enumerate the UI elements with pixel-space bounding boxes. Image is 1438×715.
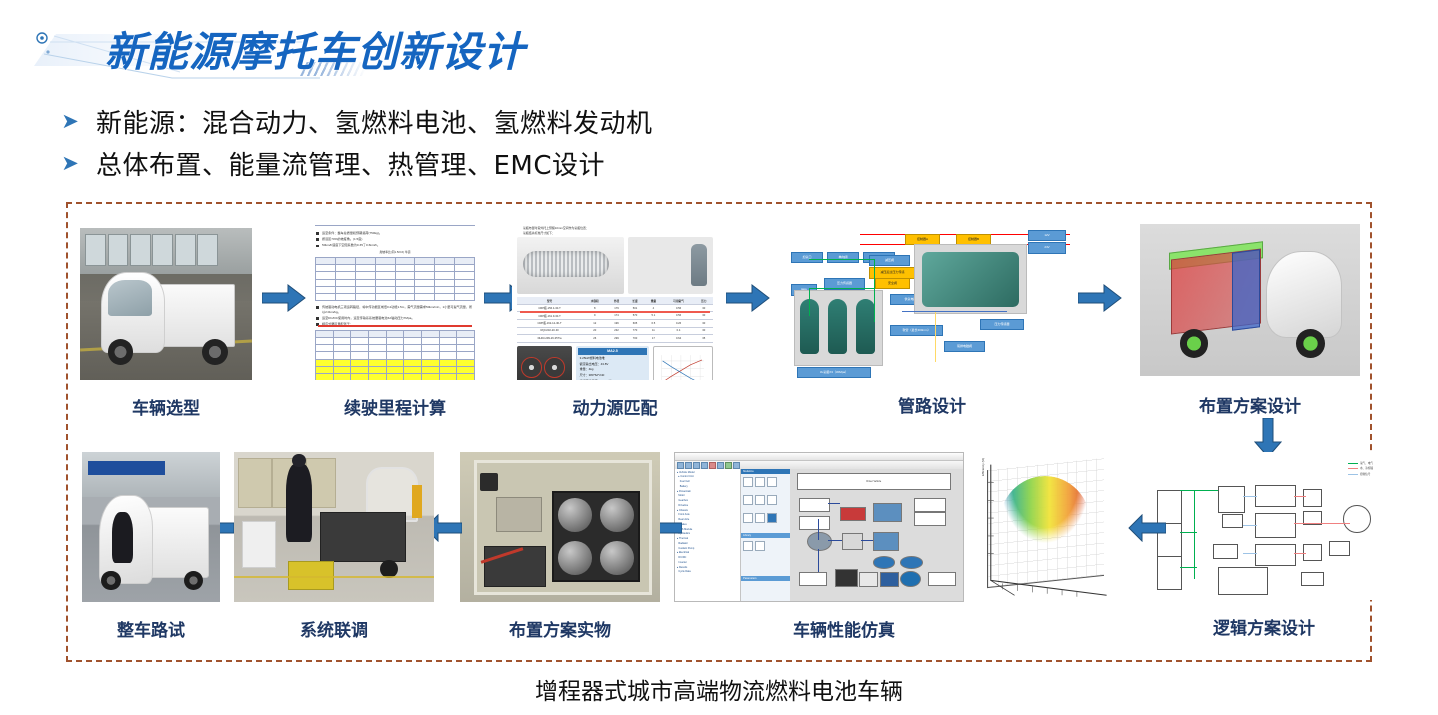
bottom-caption: 增程器式城市高端物流燃料电池车辆 — [0, 672, 1438, 706]
hydrogen-tank-photo — [517, 237, 624, 294]
arrow-3-to-4 — [726, 284, 770, 312]
fuelcell-stack — [914, 244, 1027, 315]
arrow-4-to-5 — [1078, 284, 1122, 312]
piping-label-yellow: 安全阀 — [875, 278, 910, 289]
bullet-marker-icon: ➤ — [56, 111, 84, 132]
spec-card-item: 3.25kW燃料电池堆 — [580, 356, 648, 360]
piping-label-yellow: 减压后过压力传感 — [869, 267, 916, 278]
bullet-text-1: 新能源：混合动力、氢燃料电池、氢燃料发动机 — [84, 103, 653, 140]
flow-step-road-test[interactable]: 整车路试 — [82, 452, 220, 602]
flow-step-label: 车辆性能仿真 — [694, 616, 994, 641]
doc-bullet: 运至条件：整车总质量和预期载荷(750kg)。 — [315, 231, 475, 236]
tank-rack — [552, 491, 640, 582]
flow-step-piping-design[interactable]: 12V 24V 控制器A 控制器B 加氢口 单向阀 过滤器 硬管 压力传感器 减… — [782, 222, 1082, 378]
flow-step-label: 系统联调 — [234, 616, 434, 641]
valve-parts-diagram — [628, 237, 713, 294]
simulation-software: ▸ Vehicle Model ▸ Control Unit Fuel Cell… — [674, 452, 964, 602]
block-library-panel[interactable]: Modelica Library Parameters — [741, 469, 791, 601]
slide-title-block: 新能源摩托车创新设计 — [0, 0, 760, 96]
photo-workshop-rig — [234, 452, 434, 602]
spec-card-item: 重量：4kg — [580, 367, 648, 371]
hydrogen-tank-spec: 氢瓶布置时需外托上预留10mm空间作为氢瓶位置： 氢瓶结关标准尺寸如下： 型号水… — [512, 222, 718, 380]
doc-bullet: 50km/h速度下空阻系数为0.35了0.6km/h。 — [315, 243, 475, 248]
doc-table-top — [315, 257, 475, 301]
flow-step-power-source-matching[interactable]: 氢瓶布置时需外托上预留10mm空间作为氢瓶位置： 氢瓶结关标准尺寸如下： 型号水… — [512, 222, 718, 380]
flow-step-label: 布置方案设计 — [1140, 392, 1360, 417]
bullet-list: ➤ 新能源：混合动力、氢燃料电池、氢燃料发动机 ➤ 总体布置、能量流管理、热管理… — [56, 100, 956, 184]
doc-bullet: 传统驱动电机三项运转路径，将中传功能区域低0.2功能1.5m，需气流量需求50k… — [315, 305, 475, 315]
doc-bullet: 运至DC/DC使用时内，运至传输系系统要驱电池3A轴动压力7Mpa。 — [315, 316, 475, 321]
flow-step-label: 整车路试 — [82, 616, 220, 641]
flow-step-vehicle-selection[interactable]: 车辆选型 — [80, 228, 252, 380]
doc-table-title: 爬坡率比(同1.5/0.6) 牛顿 — [315, 250, 475, 254]
flow-step-layout-design[interactable]: 布置方案设计 — [1140, 224, 1360, 376]
flow-step-label: 车辆选型 — [80, 394, 252, 419]
simulation-canvas[interactable]: Driver Vehicle — [790, 469, 963, 601]
page-title: 新能源摩托车创新设计 — [105, 18, 525, 78]
doc-table-bottom — [315, 330, 475, 380]
piping-label: 尾排电磁阀 — [944, 341, 985, 352]
spec-card-title: MA2.5 — [578, 348, 648, 355]
photo-road-test — [82, 452, 220, 602]
piping-schematic: 12V 24V 控制器A 控制器B 加氢口 单向阀 过滤器 硬管 压力传感器 减… — [782, 222, 1082, 378]
spreadsheet-document: 运至条件：整车总质量和预期载荷(750kg)。 按道区70%的坡度角。(1.5度… — [308, 218, 482, 380]
flow-step-label: 布置方案实物 — [460, 616, 660, 641]
surface-plot-3d: Efficiency (%) — [970, 452, 1118, 602]
flow-step-label: 逻辑方案设计 — [1148, 614, 1380, 639]
doc-bullet: 按道区70%的坡度角。(1.5度) — [315, 237, 475, 242]
piping-label: 减压阀 — [869, 255, 910, 266]
bullet-item-2: ➤ 总体布置、能量流管理、热管理、EMC设计 — [56, 142, 956, 184]
radiator-photo — [517, 346, 572, 380]
flow-step-label: 动力源匹配 — [512, 394, 718, 419]
piping-label: 3L氢瓶X3（30Mpa） — [797, 367, 871, 378]
flow-step-physical-layout[interactable]: 布置方案实物 — [460, 452, 660, 602]
hydrogen-tank-group — [794, 290, 883, 365]
flow-step-label: 管路设计 — [782, 392, 1082, 417]
spec-card-item: 运行环境温度：-5~40℃ — [580, 379, 648, 380]
fuelcell-spec-card: MA2.5 3.25kW燃料电池堆 额定输出电压：43.8V 重量：4kg 尺寸… — [576, 346, 650, 380]
piping-label: 12V — [1028, 230, 1066, 241]
bullet-item-1: ➤ 新能源：混合动力、氢燃料电池、氢燃料发动机 — [56, 100, 956, 142]
piping-label: 单向阀 — [827, 252, 859, 263]
spec-bullet: 氢瓶结关标准尺寸如下： — [517, 231, 713, 236]
model-tree-panel[interactable]: ▸ Vehicle Model ▸ Control Unit Fuel Cell… — [675, 469, 741, 601]
piping-label: 加氢口 — [791, 252, 823, 263]
flow-step-logic-design[interactable]: 氢气、电气 水、冷却液 控制信号 — [1148, 452, 1380, 600]
piping-label: 24V — [1028, 242, 1066, 253]
photo-cargo-trike — [80, 228, 252, 380]
flow-step-system-integration[interactable]: 系统联调 — [234, 452, 434, 602]
arrow-logic-to-sim — [1128, 514, 1166, 542]
spec-card-item: 额定输出电压：43.8V — [580, 362, 648, 366]
bullet-text-2: 总体布置、能量流管理、热管理、EMC设计 — [84, 145, 605, 182]
logic-legend: 氢气、电气 水、冷却液 控制信号 — [1348, 461, 1373, 477]
photo-cabinet-interior — [460, 452, 660, 602]
cad-render — [1140, 224, 1360, 376]
piping-label: 压力传感器 — [980, 319, 1024, 330]
spec-table: 型号水容积外径长度重量可用氢气压力 CRP瓶-156.4-30-T8179501… — [517, 297, 713, 343]
bullet-marker-icon: ➤ — [56, 153, 84, 174]
logic-block-diagram: 氢气、电气 水、冷却液 控制信号 — [1148, 452, 1380, 600]
flow-step-range-calculation[interactable]: 运至条件：整车总质量和预期载荷(750kg)。 按道区70%的坡度角。(1.5度… — [308, 218, 482, 380]
spec-card-item: 尺寸：380*62*240 — [580, 373, 648, 377]
flow-step-label: 续驶里程计算 — [308, 394, 482, 419]
polarization-curve-plot — [653, 346, 713, 380]
flow-step-performance-simulation[interactable]: ▸ Vehicle Model ▸ Control Unit Fuel Cell… — [674, 452, 1118, 602]
arrow-1-to-2 — [262, 284, 306, 312]
